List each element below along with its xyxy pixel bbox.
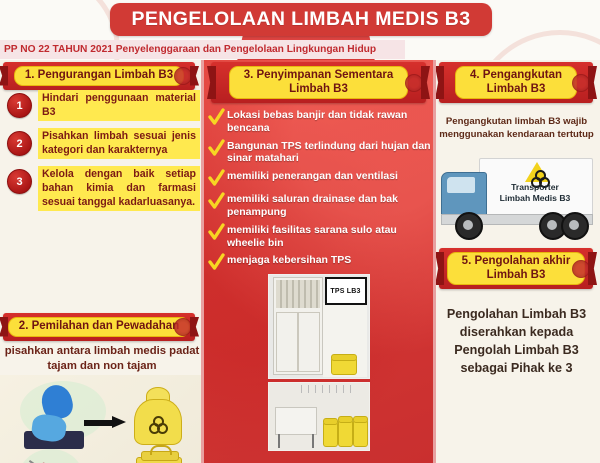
section-1-title: 1. Pengurangan Limbah B3 [14,66,184,86]
check-icon [208,169,225,188]
table-leg [278,434,280,448]
list-item-text: menjaga kebersihan TPS [227,253,351,267]
bin-lid [331,354,357,361]
bin-lid [323,418,338,425]
list-item: Lokasi bebas banjir dan tidak rawan benc… [206,108,433,135]
yellow-bin-icon [331,357,357,375]
section-3-ribbon: 3. Penyimpanan Sementara Limbah B3 [211,62,426,103]
list-item: menjaga kebersihan TPS [206,253,433,272]
section-5-title-line2: Limbah B3 [462,269,571,283]
section-1-header: 1. Pengurangan Limbah B3 [0,62,198,90]
section-3-title-line1: 3. Penyimpanan Sementara [244,69,394,83]
page-title-text: PENGELOLAAN LIMBAH MEDIS B3 [131,8,470,31]
section-3-title-line2: Limbah B3 [244,83,394,97]
section-2-ribbon: 2. Pemilahan dan Pewadahan [3,313,195,341]
tps-sign-label: TPS LB3 [330,288,360,295]
section-4-title-line2: Limbah B3 [470,83,562,97]
seal-icon [572,74,590,92]
section-4-ribbon: 4. Pengangkutan Limbah B3 [439,62,593,103]
arrow-icon [84,417,128,428]
section-4-title: 4. Pengangkutan Limbah B3 [455,66,577,99]
section-4-header: 4. Pengangkutan Limbah B3 [436,62,596,103]
column-left: 1. Pengurangan Limbah B3 1 Hindari pengg… [0,60,204,463]
list-item: memiliki fasilitas sarana sulo atau whee… [206,223,433,250]
arrow-head [112,416,126,428]
infographic-poster: PENGELOLAAN LIMBAH MEDIS B3 PP NO 22 TAH… [0,0,600,463]
truck-wheel [455,212,483,240]
seal-icon [405,74,423,92]
section-3-header: 3. Penyimpanan Sementara Limbah B3 [208,62,429,103]
wall-hooks [295,385,355,393]
section-5-ribbon: 5. Pengolahan akhir Limbah B3 [439,248,593,289]
arrow-shaft [84,420,114,426]
section-5-title: 5. Pengolahan akhir Limbah B3 [447,252,586,285]
storage-cabinet [273,277,323,375]
check-icon [208,253,225,272]
column-divider-left [201,60,204,463]
list-item-text: Lokasi bebas banjir dan tidak rawan benc… [227,108,433,135]
section-1-ribbon: 1. Pengurangan Limbah B3 [3,62,195,90]
bin-lid [353,416,368,423]
tps-sign: TPS LB3 [325,277,367,305]
truck-cabin [441,172,487,216]
truck-label-line1: Transporter [485,182,585,193]
check-icon [208,139,225,158]
check-icon [208,223,225,242]
photo-tps-bins-room [268,382,370,451]
list-item: memiliki penerangan dan ventilasi [206,169,433,188]
truck-label: Transporter Limbah Medis B3 [485,182,585,204]
seal-icon [174,318,192,336]
truck-wheel [561,212,589,240]
list-item-text: Hindari penggunaan material B3 [38,90,200,121]
list-number-badge: 3 [7,169,32,194]
yellow-bin-icon [338,419,353,447]
list-item-text: memiliki penerangan dan ventilasi [227,169,398,183]
cabinet-door-left [276,312,298,372]
table-leg [312,434,314,448]
section-5-title-line1: 5. Pengolahan akhir [462,255,571,269]
list-item: memiliki saluran drainase dan bak penamp… [206,192,433,219]
truck-label-line2: Limbah Medis B3 [485,193,585,204]
storage-table [275,407,317,435]
sharps-container-icon [136,457,182,463]
list-number-badge: 1 [7,93,32,118]
list-item: 1 Hindari penggunaan material B3 [0,90,200,121]
section-3-checklist: Lokasi bebas banjir dan tidak rawan benc… [206,108,433,276]
section-4-title-line1: 4. Pengangkutan [470,69,562,83]
cabinet-door-right [298,312,320,372]
list-item-text: memiliki fasilitas sarana sulo atau whee… [227,223,433,250]
page-title: PENGELOLAAN LIMBAH MEDIS B3 [110,3,492,36]
section-5-header: 5. Pengolahan akhir Limbah B3 [436,248,596,289]
section-2-illustration [0,375,204,463]
column-divider-right [433,60,436,463]
list-item: 3 Kelola dengan baik setiap bahan kimia … [0,166,200,211]
header-subtitle: PP NO 22 TAHUN 2021 Penyelenggaraan dan … [0,40,405,59]
list-item: Bangunan TPS terlindung dari hujan dan s… [206,139,433,166]
yellow-bin-icon [353,419,368,447]
list-item-text: Kelola dengan baik setiap bahan kimia da… [38,166,200,211]
list-item: 2 Pisahkan limbah sesuai jenis kategori … [0,128,200,159]
section-3-title: 3. Penyimpanan Sementara Limbah B3 [229,66,409,99]
list-number-badge: 2 [7,131,32,156]
check-icon [208,192,225,211]
header-subtitle-text: PP NO 22 TAHUN 2021 Penyelenggaraan dan … [0,44,376,55]
photo-tps-storage-room: TPS LB3 [268,274,370,379]
column-middle: 3. Penyimpanan Sementara Limbah B3 Lokas… [204,60,433,463]
section-3-photos: TPS LB3 [204,274,433,454]
section-2-description: pisahkan antara limbah medis padat tajam… [0,344,204,373]
biohazard-icon [149,416,165,432]
list-item-text: memiliki saluran drainase dan bak penamp… [227,192,433,219]
cabinet-vent [276,280,320,308]
yellow-waste-bag-icon [134,399,182,445]
seal-icon [572,260,590,278]
transport-truck-illustration: Transporter Limbah Medis B3 [433,152,600,247]
check-icon [208,108,225,127]
bin-lid [338,416,353,423]
section-2-title: 2. Pemilahan dan Pewadahan [8,317,190,337]
seal-icon [174,67,192,85]
header: PENGELOLAAN LIMBAH MEDIS B3 PP NO 22 TAH… [0,0,600,63]
section-4-description: Pengangkutan limbah B3 wajib menggunakan… [435,115,598,141]
section-5-description: Pengolahan Limbah B3 diserahkan kepada P… [435,305,598,377]
list-item-text: Pisahkan limbah sesuai jenis kategori da… [38,128,200,159]
list-item-text: Bangunan TPS terlindung dari hujan dan s… [227,139,433,166]
yellow-bin-icon [323,421,338,447]
sharps-handle [150,445,172,455]
bag-body [134,399,182,445]
column-right: 4. Pengangkutan Limbah B3 Pengangkutan l… [433,60,600,463]
truck-window [447,177,475,193]
section-1-list: 1 Hindari penggunaan material B3 2 Pisah… [0,90,200,218]
section-2-header: 2. Pemilahan dan Pewadahan [0,313,198,341]
